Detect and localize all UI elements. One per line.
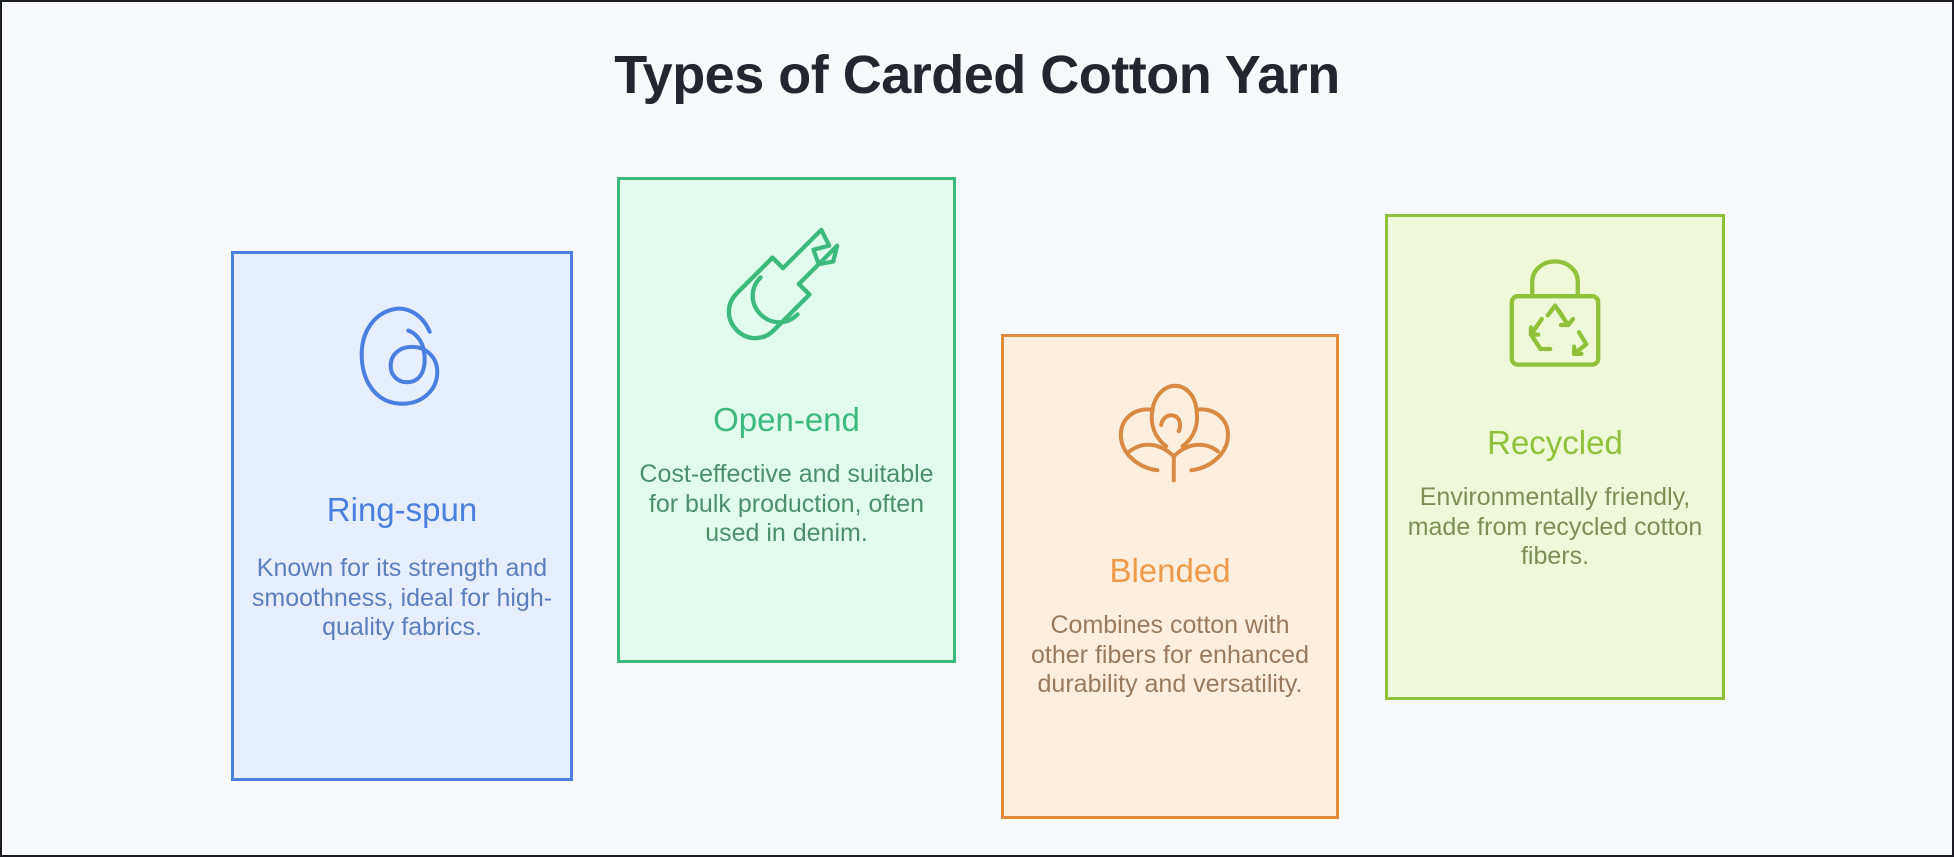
card-title: Blended (1109, 553, 1230, 589)
card-title: Ring-spun (327, 492, 477, 528)
card-description: Cost-effective and suitable for bulk pro… (636, 460, 937, 549)
card-recycled[interactable]: Recycled Environmentally friendly, made … (1385, 214, 1725, 700)
card-title: Recycled (1487, 425, 1623, 461)
card-description: Known for its strength and smoothness, i… (250, 554, 554, 643)
infographic-canvas: Types of Carded Cotton Yarn Ring-spun Kn… (0, 0, 1954, 857)
card-blended[interactable]: Blended Combines cotton with other fiber… (1001, 334, 1339, 819)
safety-pin-needle-icon (721, 218, 853, 350)
card-description: Combines cotton with other fibers for en… (1020, 611, 1320, 700)
cotton-boll-icon (1107, 377, 1233, 503)
recycle-bag-icon (1495, 253, 1615, 373)
threads-loop-icon (339, 294, 465, 420)
page-title: Types of Carded Cotton Yarn (2, 44, 1952, 106)
card-description: Environmentally friendly, made from recy… (1404, 483, 1706, 572)
card-title: Open-end (713, 402, 860, 438)
card-ring-spun[interactable]: Ring-spun Known for its strength and smo… (231, 251, 573, 781)
card-open-end[interactable]: Open-end Cost-effective and suitable for… (617, 177, 956, 663)
